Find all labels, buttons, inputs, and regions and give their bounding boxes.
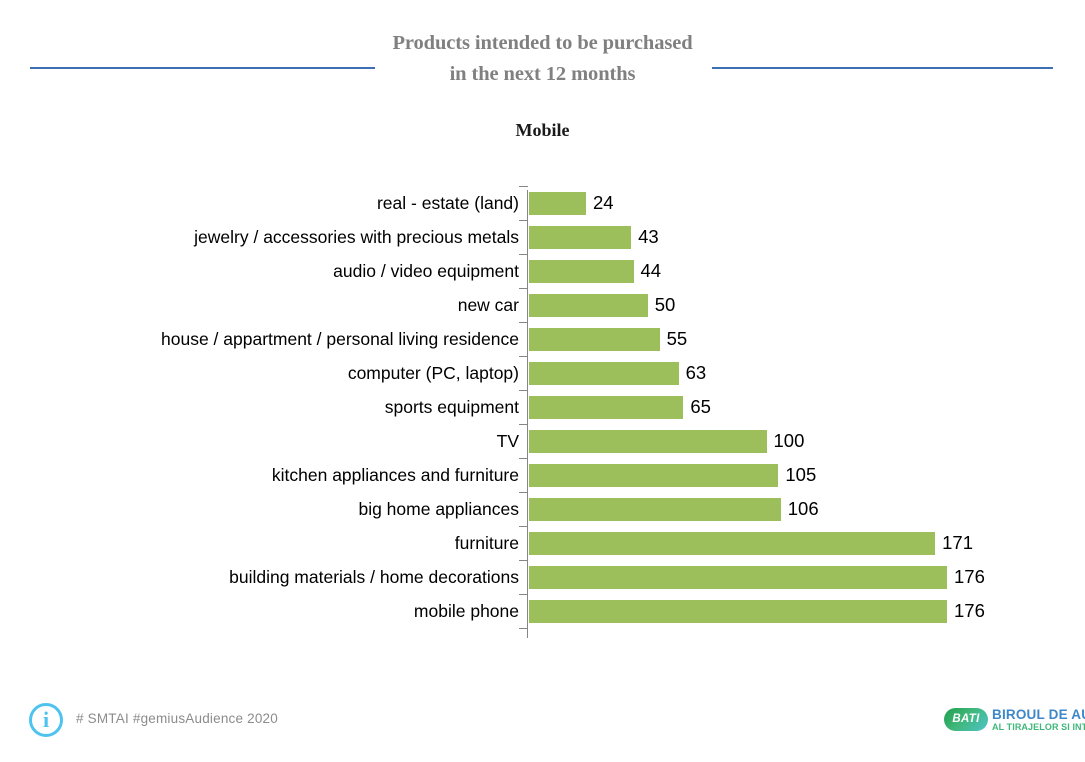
bar [529,532,935,555]
bar-value-label: 43 [638,226,659,248]
chart-subtitle: Mobile [300,120,785,141]
bar [529,328,660,351]
bar-value-label: 65 [690,396,711,418]
footer-source-text: # SMTAI #gemiusAudience 2020 [76,711,278,726]
bar-row: kitchen appliances and furniture105 [0,458,1085,492]
bar-row: jewelry / accessories with precious meta… [0,220,1085,254]
bar [529,464,778,487]
bar-value-label: 55 [667,328,688,350]
axis-tick [519,220,528,221]
bar-value-label: 105 [785,464,816,486]
axis-tick [519,526,528,527]
category-label: big home appliances [10,498,519,520]
category-label: real - estate (land) [10,192,519,214]
category-label: furniture [10,532,519,554]
category-label: mobile phone [10,600,519,622]
axis-tick [519,186,528,187]
page-title-line-2: in the next 12 months [300,59,785,90]
bati-logo-line-1: BIROUL DE AUDIT [992,707,1085,722]
axis-tick [519,356,528,357]
bar-row: computer (PC, laptop)63 [0,356,1085,390]
axis-tick [519,594,528,595]
page-title-line-1: Products intended to be purchased [300,28,785,59]
bar-row: sports equipment65 [0,390,1085,424]
bar [529,396,683,419]
bar-value-label: 44 [641,260,662,282]
bar-row: TV100 [0,424,1085,458]
bar-value-label: 171 [942,532,973,554]
bar-value-label: 100 [774,430,805,452]
bar-row: mobile phone176 [0,594,1085,628]
bar [529,192,586,215]
bar [529,362,679,385]
bar [529,294,648,317]
axis-tick [519,254,528,255]
slide-footer: i # SMTAI #gemiusAudience 2020 [0,690,1085,762]
bar-row: furniture171 [0,526,1085,560]
axis-tick [519,322,528,323]
axis-tick [519,492,528,493]
slide-canvas: Products intended to be purchased in the… [0,0,1085,762]
bati-logo-badge: BATI [944,708,988,731]
bar-row: building materials / home decorations176 [0,560,1085,594]
category-label: TV [10,430,519,452]
bar [529,226,631,249]
bar-row: real - estate (land)24 [0,186,1085,220]
bar-value-label: 24 [593,192,614,214]
category-label: sports equipment [10,396,519,418]
category-label: new car [10,294,519,316]
category-label: jewelry / accessories with precious meta… [10,226,519,248]
category-label: building materials / home decorations [10,566,519,588]
bar [529,498,781,521]
axis-tick [519,288,528,289]
bar [529,430,767,453]
axis-tick [519,424,528,425]
bar-value-label: 106 [788,498,819,520]
category-label: audio / video equipment [10,260,519,282]
bar-row: audio / video equipment44 [0,254,1085,288]
bar-row: big home appliances106 [0,492,1085,526]
slide-header: Products intended to be purchased in the… [0,0,1085,105]
bar-row: house / appartment / personal living res… [0,322,1085,356]
bar-row: new car50 [0,288,1085,322]
bar [529,566,947,589]
bar [529,600,947,623]
axis-tick [519,458,528,459]
bar-value-label: 50 [655,294,676,316]
info-icon: i [29,703,63,737]
bar-chart-plot-area: real - estate (land)24jewelry / accessor… [0,186,1085,642]
axis-tick [519,628,528,629]
bar-value-label: 63 [686,362,707,384]
bati-logo-line-2: AL TIRAJELOR SI INTERNETULUI [992,722,1085,732]
bati-logo: BATI BIROUL DE AUDIT AL TIRAJELOR SI INT… [944,706,1079,740]
category-label: house / appartment / personal living res… [10,328,519,350]
bar-value-label: 176 [954,566,985,588]
category-label: computer (PC, laptop) [10,362,519,384]
bar-value-label: 176 [954,600,985,622]
category-label: kitchen appliances and furniture [10,464,519,486]
bar [529,260,634,283]
axis-tick [519,390,528,391]
page-title: Products intended to be purchased in the… [300,28,785,90]
axis-tick [519,560,528,561]
